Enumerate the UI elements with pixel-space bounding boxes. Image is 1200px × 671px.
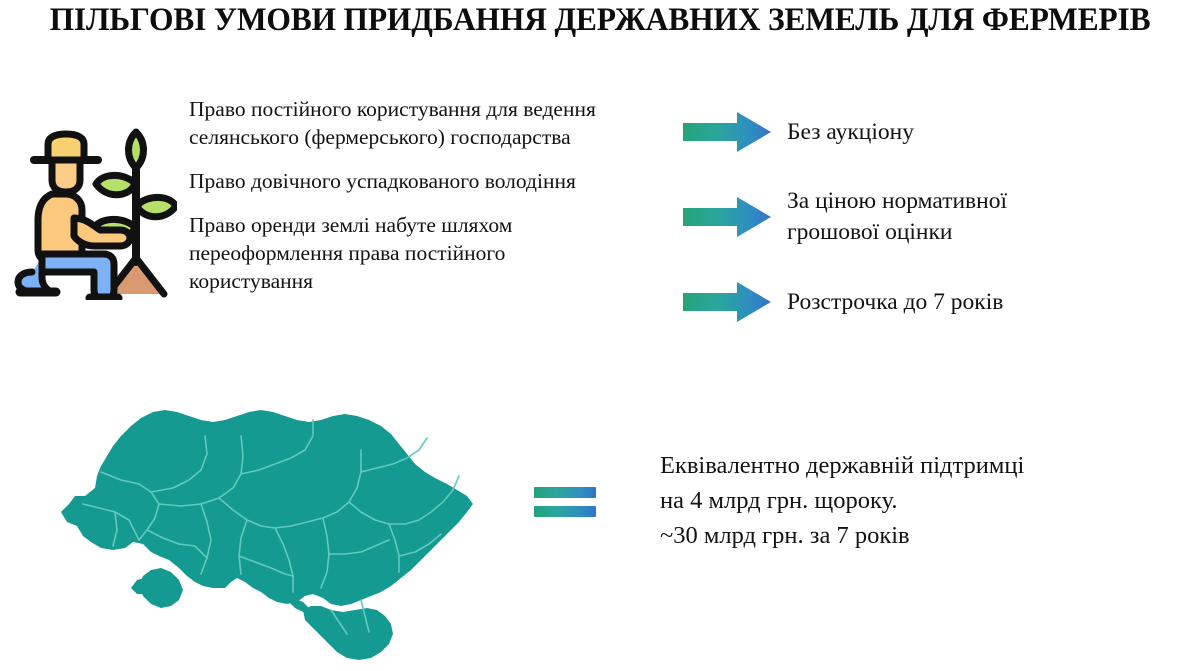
list-item: Право довічного успадкованого володіння [189, 167, 609, 195]
ukraine-map: ~543 тис. га [55, 392, 475, 664]
list-item: Право постійного користування для веденн… [189, 95, 609, 151]
equals-bar-top [534, 487, 596, 498]
benefit-row: За ціною нормативної грошової оцінки [683, 186, 1183, 248]
benefit-label: Без аукціону [787, 117, 914, 148]
ukraine-mainland [61, 410, 473, 660]
benefit-row: Розстрочка до 7 років [683, 274, 1183, 330]
arrow-right-icon [683, 280, 771, 324]
equals-gap [534, 498, 596, 506]
infographic-page: ПІЛЬГОВІ УМОВИ ПРИДБАННЯ ДЕРЖАВНИХ ЗЕМЕЛ… [0, 0, 1200, 671]
page-title: ПІЛЬГОВІ УМОВИ ПРИДБАННЯ ДЕРЖАВНИХ ЗЕМЕЛ… [27, 2, 1173, 39]
list-item: Право оренди землі набуте шляхом переофо… [189, 211, 609, 295]
benefits-list: Без аукціону За ціною нормативно [683, 104, 1183, 330]
rights-list: Право постійного користування для веденн… [189, 95, 609, 295]
equivalence-text: Еквівалентно державній підтримці на 4 мл… [660, 448, 1180, 553]
benefit-label: За ціною нормативної грошової оцінки [787, 186, 1007, 248]
arrow-right-icon [683, 195, 771, 239]
farmer-planting-seedling-icon [12, 122, 177, 300]
equals-sign-icon [534, 487, 596, 517]
benefit-label: Розстрочка до 7 років [787, 287, 1003, 318]
arrow-right-icon [683, 110, 771, 154]
benefit-row: Без аукціону [683, 104, 1183, 160]
equals-bar-bottom [534, 506, 596, 517]
